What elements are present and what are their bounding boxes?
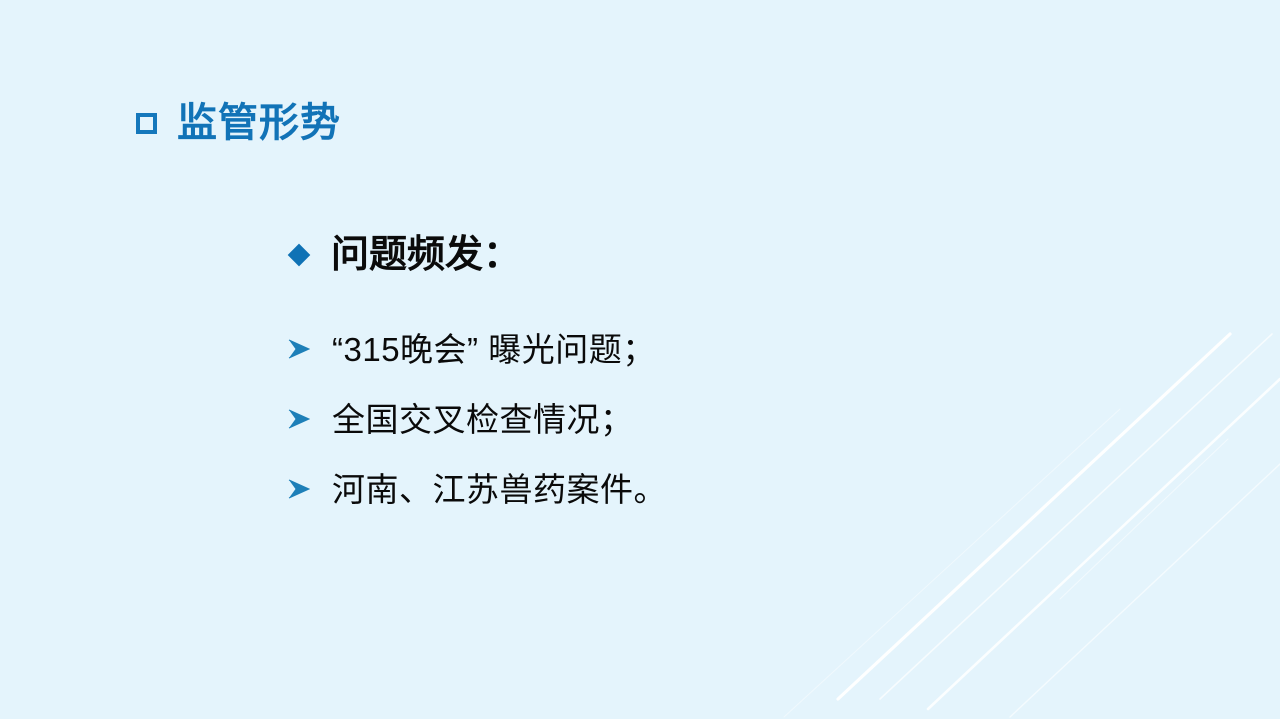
list-item: 河南、江苏兽药案件。 [288, 454, 667, 524]
slide-canvas: 监管形势 问题频发： “315晚会” 曝光问题； 全国交叉检查情况； [0, 0, 1280, 719]
diagonal-light-streaks-decoration [760, 299, 1280, 719]
arrow-head-icon [288, 478, 310, 500]
hollow-square-icon [136, 113, 157, 134]
arrow-head-icon [288, 338, 310, 360]
list-item: “315晚会” 曝光问题； [288, 314, 667, 384]
filled-diamond-icon [288, 244, 311, 267]
page-title: 监管形势 [177, 103, 341, 143]
bullet-list: “315晚会” 曝光问题； 全国交叉检查情况； 河南、江苏兽药案件。 [288, 314, 667, 524]
list-item-label: “315晚会” 曝光问题； [332, 333, 656, 366]
list-item-label: 全国交叉检查情况； [332, 403, 634, 436]
section-title-row: 监管形势 [136, 103, 341, 143]
heading-label: 问题频发： [331, 236, 521, 274]
heading-row: 问题频发： [291, 236, 521, 274]
arrow-head-icon [288, 408, 310, 430]
list-item: 全国交叉检查情况； [288, 384, 667, 454]
list-item-label: 河南、江苏兽药案件。 [332, 473, 667, 506]
